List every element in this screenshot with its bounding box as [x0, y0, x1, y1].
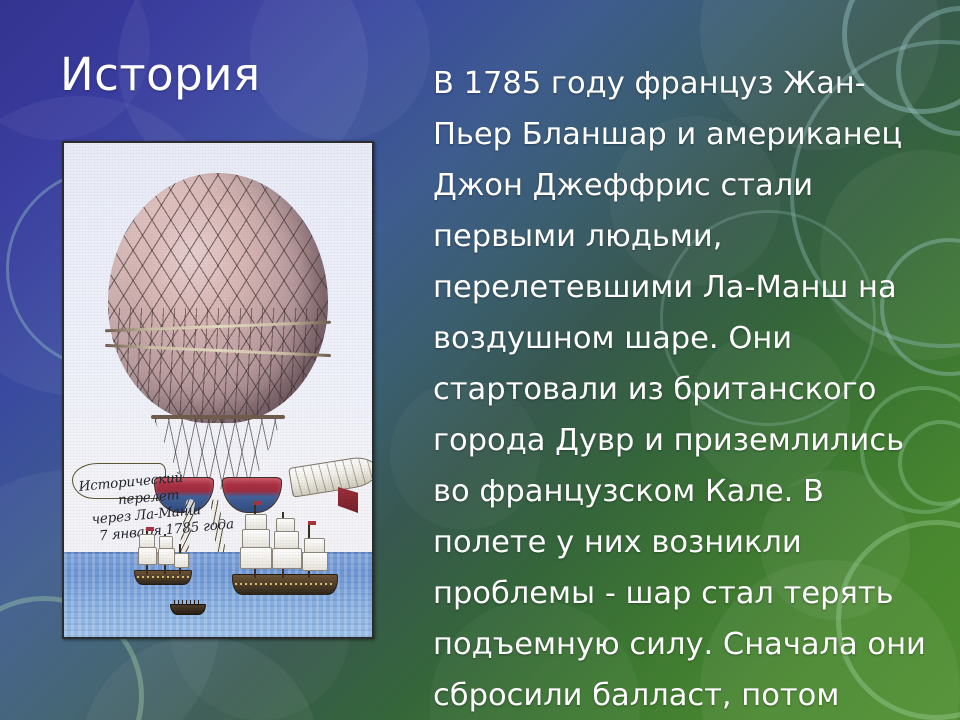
body-text-line: проблемы - шар стал терять: [433, 568, 943, 619]
body-text-line: полете у них возникли: [433, 517, 943, 568]
body-text-line: В 1785 году француз Жан-: [433, 58, 943, 109]
body-text-line: Пьер Бланшар и американец: [433, 109, 943, 160]
body-text-line: сбросили балласт, потом: [433, 670, 943, 720]
small-sailing-ship: [134, 527, 190, 585]
body-text-line: города Дувр и приземлились: [433, 415, 943, 466]
body-text-line: во французском Кале. В: [433, 466, 943, 517]
slide-root: История: [0, 0, 960, 720]
engraving-canvas: Исторический перелет через Ла-Манш 7 янв…: [64, 143, 372, 637]
body-text-line: Джон Джеффрис стали: [433, 160, 943, 211]
body-text-line: стартовали из британского: [433, 364, 943, 415]
body-text-line: воздушном шаре. Они: [433, 313, 943, 364]
rowboat: [170, 604, 206, 615]
white-wing-shape: [288, 454, 374, 497]
background-circle: [250, 0, 430, 140]
history-illustration: Исторический перелет через Ла-Манш 7 янв…: [62, 141, 374, 639]
body-text-block: В 1785 году француз Жан-Пьер Бланшар и а…: [433, 58, 943, 720]
balloon-envelope-icon: [108, 173, 328, 423]
background-circle: [80, 636, 320, 720]
large-sailing-ship: [232, 499, 336, 595]
body-text-line: подъемную силу. Сначала они: [433, 619, 943, 670]
page-title: История: [60, 52, 261, 97]
body-text-line: перелетевшими Ла-Манш на: [433, 262, 943, 313]
balloon-net-vertical: [108, 173, 328, 423]
body-text-line: первыми людьми,: [433, 211, 943, 262]
rigging-ring: [151, 415, 285, 419]
rudder-shape: [338, 487, 358, 513]
